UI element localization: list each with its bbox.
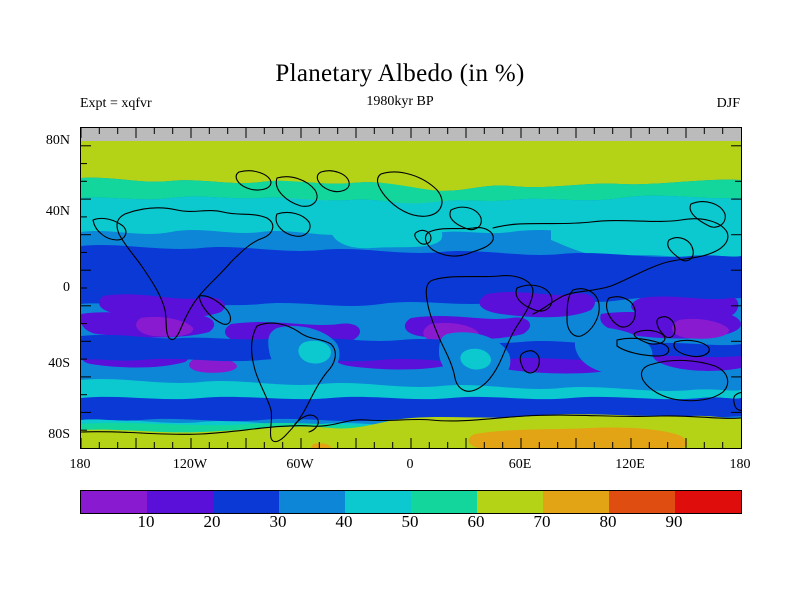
- colorbar-band-60-70: [477, 491, 543, 513]
- colorbar-tick-20: 20: [182, 513, 242, 530]
- colorbar-tick-50: 50: [380, 513, 440, 530]
- x-tick-label-120e: 120E: [590, 458, 670, 472]
- colorbar-tick-90: 90: [644, 513, 704, 530]
- colorbar-band-80-90: [609, 491, 675, 513]
- y-tick-label-0: 0: [12, 281, 70, 295]
- x-tick-label-180e: 180: [700, 458, 780, 472]
- season-label: DJF: [640, 96, 740, 112]
- x-tick-label-60e: 60E: [480, 458, 560, 472]
- colorbar-band-20-30: [213, 491, 279, 513]
- colorbar-band-0-10: [81, 491, 147, 513]
- colorbar-band-40-50: [345, 491, 411, 513]
- x-tick-label-0: 0: [370, 458, 450, 472]
- colorbar[interactable]: [80, 490, 742, 514]
- colorbar-tick-80: 80: [578, 513, 638, 530]
- y-tick-label-40s: 40S: [12, 357, 70, 371]
- map-plot-area[interactable]: [80, 127, 742, 449]
- colorbar-band-30-40: [279, 491, 345, 513]
- figure-canvas: Planetary Albedo (in %) 1980kyr BP Expt …: [0, 0, 800, 600]
- colorbar-tick-70: 70: [512, 513, 572, 530]
- colorbar-band-10-20: [147, 491, 213, 513]
- y-tick-label-80s: 80S: [12, 428, 70, 442]
- x-tick-label-60w: 60W: [260, 458, 340, 472]
- experiment-label: Expt = xqfvr: [80, 96, 152, 112]
- colorbar-band-50-60: [411, 491, 477, 513]
- y-tick-label-80n: 80N: [12, 134, 70, 148]
- x-tick-label-120w: 120W: [150, 458, 230, 472]
- x-tick-label-180w: 180: [40, 458, 120, 472]
- colorbar-tick-10: 10: [116, 513, 176, 530]
- albedo-map: [81, 128, 741, 448]
- colorbar-band-70-80: [543, 491, 609, 513]
- colorbar-tick-30: 30: [248, 513, 308, 530]
- y-tick-label-40n: 40N: [12, 205, 70, 219]
- colorbar-tick-40: 40: [314, 513, 374, 530]
- page-title: Planetary Albedo (in %): [0, 60, 800, 88]
- colorbar-tick-60: 60: [446, 513, 506, 530]
- colorbar-band-90-100: [675, 491, 741, 513]
